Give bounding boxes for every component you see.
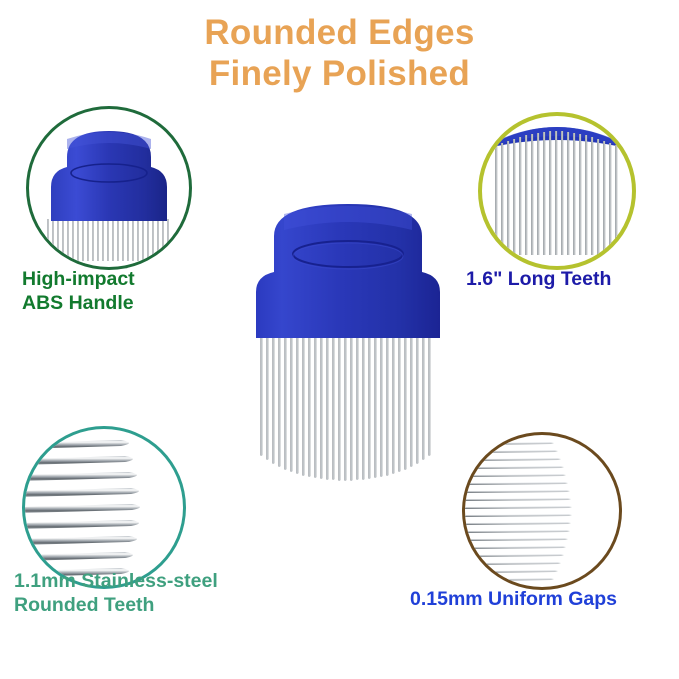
callout-label-uniform-gaps: 0.15mm Uniform Gaps [410,588,617,612]
callout-circle-high-impact-abs-handle [26,106,192,270]
long-teeth-pins [495,131,617,255]
comb-teeth [260,336,430,481]
callout-label-long-teeth: 1.6" Long Teeth [466,268,611,292]
callout-circle-rounded-teeth [22,426,186,589]
headline: Rounded Edges Finely Polished [0,12,679,95]
callout-label-high-impact-abs-handle: High-impact ABS Handle [22,268,135,316]
callout-circle-uniform-gaps [462,432,622,590]
handle-closeup-illustration [29,109,189,267]
rounded-teeth-illustration [25,429,182,585]
comb-handle [256,204,440,338]
uniform-gaps-illustration [465,435,619,587]
rounded-teeth-pins [25,440,140,577]
uniform-gaps-pins [465,442,572,581]
product-infographic: Rounded Edges Finely Polished [0,0,679,679]
callout-circle-long-teeth [478,112,636,270]
product-image-lice-comb [228,196,468,486]
headline-line-1: Rounded Edges [0,12,679,53]
callout-label-rounded-teeth: 1.1mm Stainless-steel Rounded Teeth [14,570,218,618]
headline-line-2: Finely Polished [0,53,679,94]
handle-closeup-teeth [45,219,173,263]
long-teeth-illustration [482,116,632,266]
